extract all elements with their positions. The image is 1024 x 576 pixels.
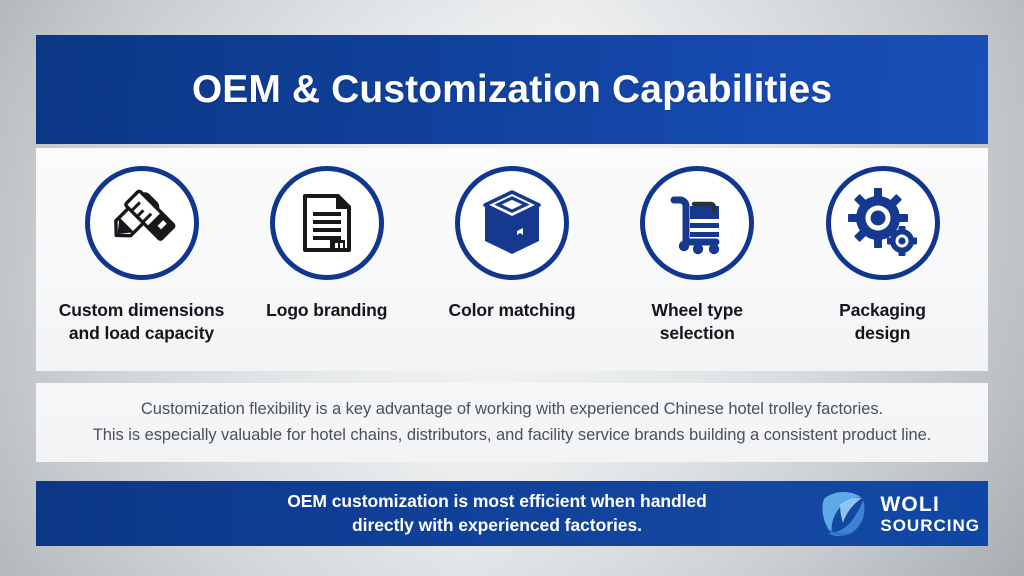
feature-label: Wheel type selection bbox=[652, 299, 743, 346]
feature-label: Logo branding bbox=[266, 299, 387, 322]
slide-canvas: OEM & Customization Capabilities bbox=[0, 0, 1024, 576]
logo-primary-text: WOLI bbox=[880, 494, 980, 515]
logo-secondary-text: SOURCING bbox=[880, 517, 980, 534]
icon-circle bbox=[826, 166, 940, 280]
footer-message: OEM customization is most efficient when… bbox=[287, 490, 737, 537]
slide-footer-bar: OEM customization is most efficient when… bbox=[36, 481, 988, 546]
capabilities-panel: Custom dimensions and load capacity bbox=[36, 148, 988, 371]
gears-icon bbox=[846, 186, 920, 260]
page-title: OEM & Customization Capabilities bbox=[152, 67, 872, 113]
feature-item-wheel-type: Wheel type selection bbox=[606, 166, 789, 346]
feature-label: Packaging design bbox=[839, 299, 926, 346]
description-panel: Customization flexibility is a key advan… bbox=[36, 383, 988, 462]
description-text: Customization flexibility is a key advan… bbox=[93, 397, 932, 448]
icon-circle bbox=[85, 166, 199, 280]
feature-item-logo-branding: Logo branding bbox=[235, 166, 418, 322]
woli-swoosh-logo-icon bbox=[817, 489, 873, 539]
document-certificate-icon bbox=[292, 188, 362, 258]
feature-item-color-matching: Color matching bbox=[421, 166, 604, 322]
slide-content-stage: OEM & Customization Capabilities bbox=[36, 0, 988, 576]
brand-logo: WOLI SOURCING bbox=[817, 489, 980, 539]
logo-wordmark: WOLI SOURCING bbox=[880, 494, 980, 534]
feature-item-custom-dimensions: Custom dimensions and load capacity bbox=[50, 166, 233, 346]
icon-circle bbox=[455, 166, 569, 280]
feature-label: Custom dimensions and load capacity bbox=[59, 299, 225, 346]
icon-circle bbox=[270, 166, 384, 280]
hand-truck-trolley-icon bbox=[660, 186, 734, 260]
slide-header-bar: OEM & Customization Capabilities bbox=[36, 35, 988, 144]
feature-label: Color matching bbox=[449, 299, 576, 322]
feature-item-packaging-design: Packaging design bbox=[791, 166, 974, 346]
icon-circle bbox=[640, 166, 754, 280]
ruler-pencil-icon bbox=[105, 186, 179, 260]
package-box-icon bbox=[475, 186, 549, 260]
